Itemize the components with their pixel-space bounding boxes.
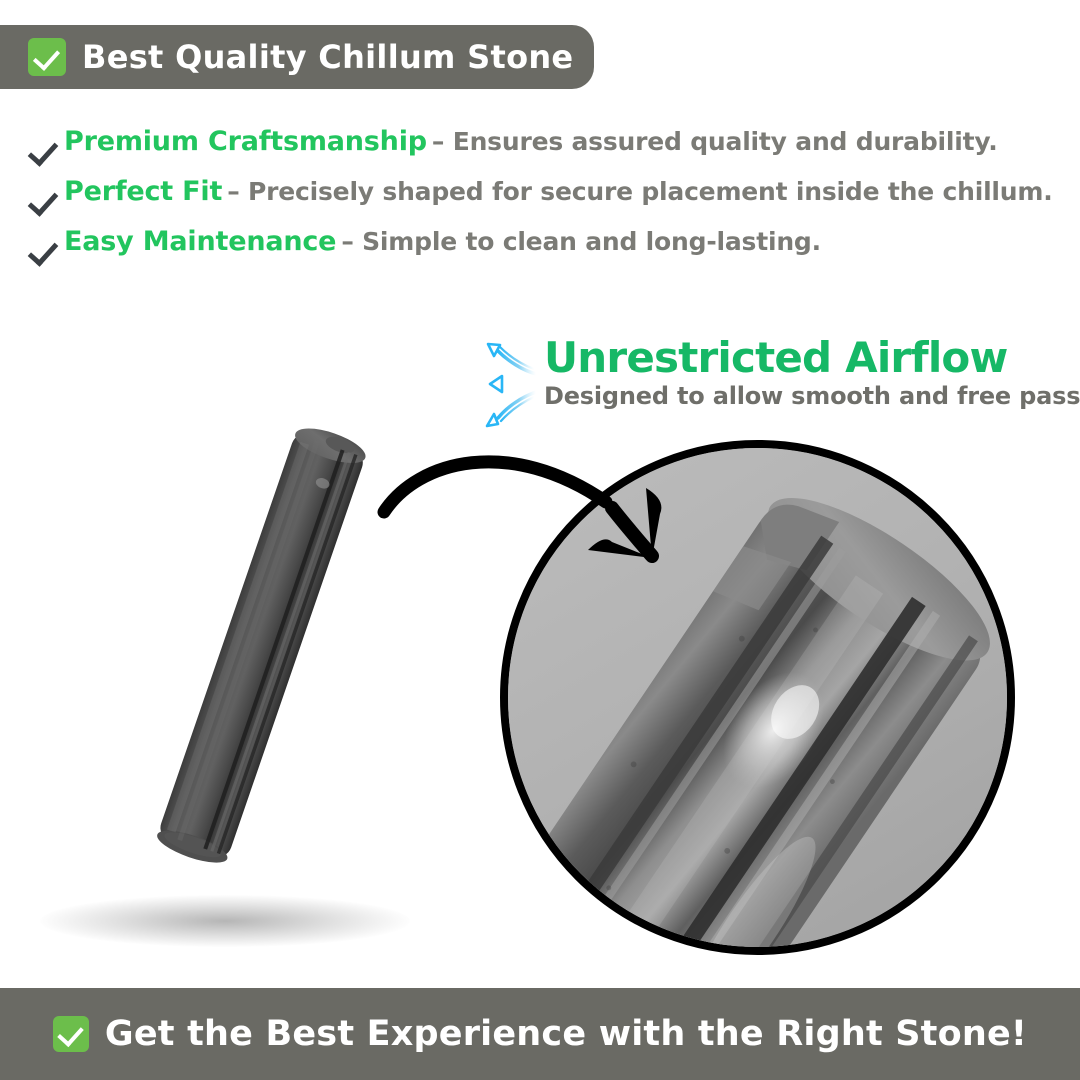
feature-description: – Ensures assured quality and durability… (432, 127, 998, 156)
airflow-callout: Unrestricted Airflow Designed to allow s… (478, 336, 1018, 432)
checkmark-icon (26, 184, 60, 218)
airflow-subtitle: Designed to allow smooth and free passag… (544, 382, 1080, 410)
feature-list: Premium Craftsmanship – Ensures assured … (26, 126, 1046, 276)
list-item: Easy Maintenance – Simple to clean and l… (26, 226, 1046, 276)
footer-banner: Get the Best Experience with the Right S… (0, 988, 1080, 1080)
check-square-icon (53, 1016, 89, 1052)
feature-title: Premium Craftsmanship (64, 126, 427, 157)
check-square-icon (28, 38, 66, 76)
checkmark-icon (26, 234, 60, 268)
page-title: Best Quality Chillum Stone (82, 38, 573, 76)
footer-tagline: Get the Best Experience with the Right S… (105, 1014, 1027, 1054)
feature-title: Perfect Fit (64, 176, 222, 207)
checkmark-icon (26, 134, 60, 168)
feature-description: – Precisely shaped for secure placement … (227, 177, 1052, 206)
list-item: Premium Craftsmanship – Ensures assured … (26, 126, 1046, 176)
list-item: Perfect Fit – Precisely shaped for secur… (26, 176, 1046, 226)
header-banner: Best Quality Chillum Stone (0, 25, 594, 89)
product-shadow (40, 895, 410, 947)
airflow-arrows-icon (478, 340, 540, 432)
chillum-stone-closeup-photo (500, 440, 1015, 955)
feature-title: Easy Maintenance (64, 226, 336, 257)
feature-description: – Simple to clean and long-lasting. (341, 227, 821, 256)
airflow-title: Unrestricted Airflow (544, 336, 1080, 380)
chillum-stone-photo (60, 400, 460, 900)
